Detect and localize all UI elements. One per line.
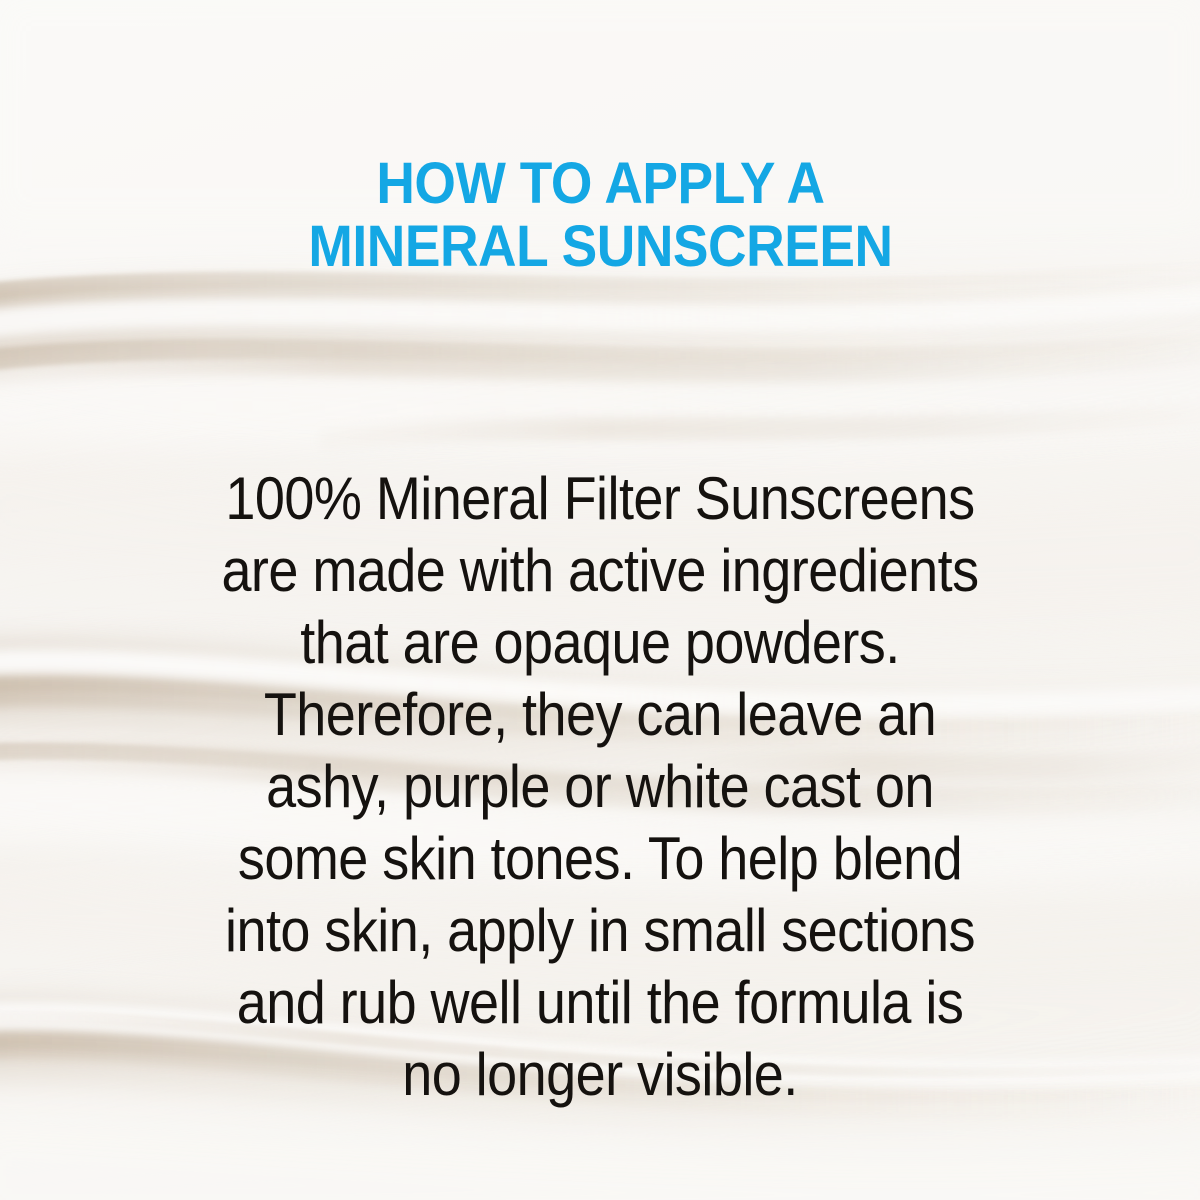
body-line-8: and rub well until the formula is bbox=[168, 967, 1032, 1039]
body-line-3: that are opaque powders. bbox=[168, 607, 1032, 679]
infographic-canvas: HOW TO APPLY A MINERAL SUNSCREEN 100% Mi… bbox=[0, 0, 1200, 1200]
headline-line-1: HOW TO APPLY A bbox=[308, 152, 892, 215]
content-stack: HOW TO APPLY A MINERAL SUNSCREEN 100% Mi… bbox=[0, 0, 1200, 1200]
body-line-5: ashy, purple or white cast on bbox=[168, 751, 1032, 823]
body-paragraph: 100% Mineral Filter Sunscreens are made … bbox=[168, 463, 1032, 1111]
body-line-1: 100% Mineral Filter Sunscreens bbox=[168, 463, 1032, 535]
body-line-9: no longer visible. bbox=[168, 1039, 1032, 1111]
page-title: HOW TO APPLY A MINERAL SUNSCREEN bbox=[308, 152, 892, 278]
headline-line-2: MINERAL SUNSCREEN bbox=[308, 215, 892, 278]
body-line-7: into skin, apply in small sections bbox=[168, 895, 1032, 967]
body-line-4: Therefore, they can leave an bbox=[168, 679, 1032, 751]
body-line-2: are made with active ingredients bbox=[168, 535, 1032, 607]
body-line-6: some skin tones. To help blend bbox=[168, 823, 1032, 895]
